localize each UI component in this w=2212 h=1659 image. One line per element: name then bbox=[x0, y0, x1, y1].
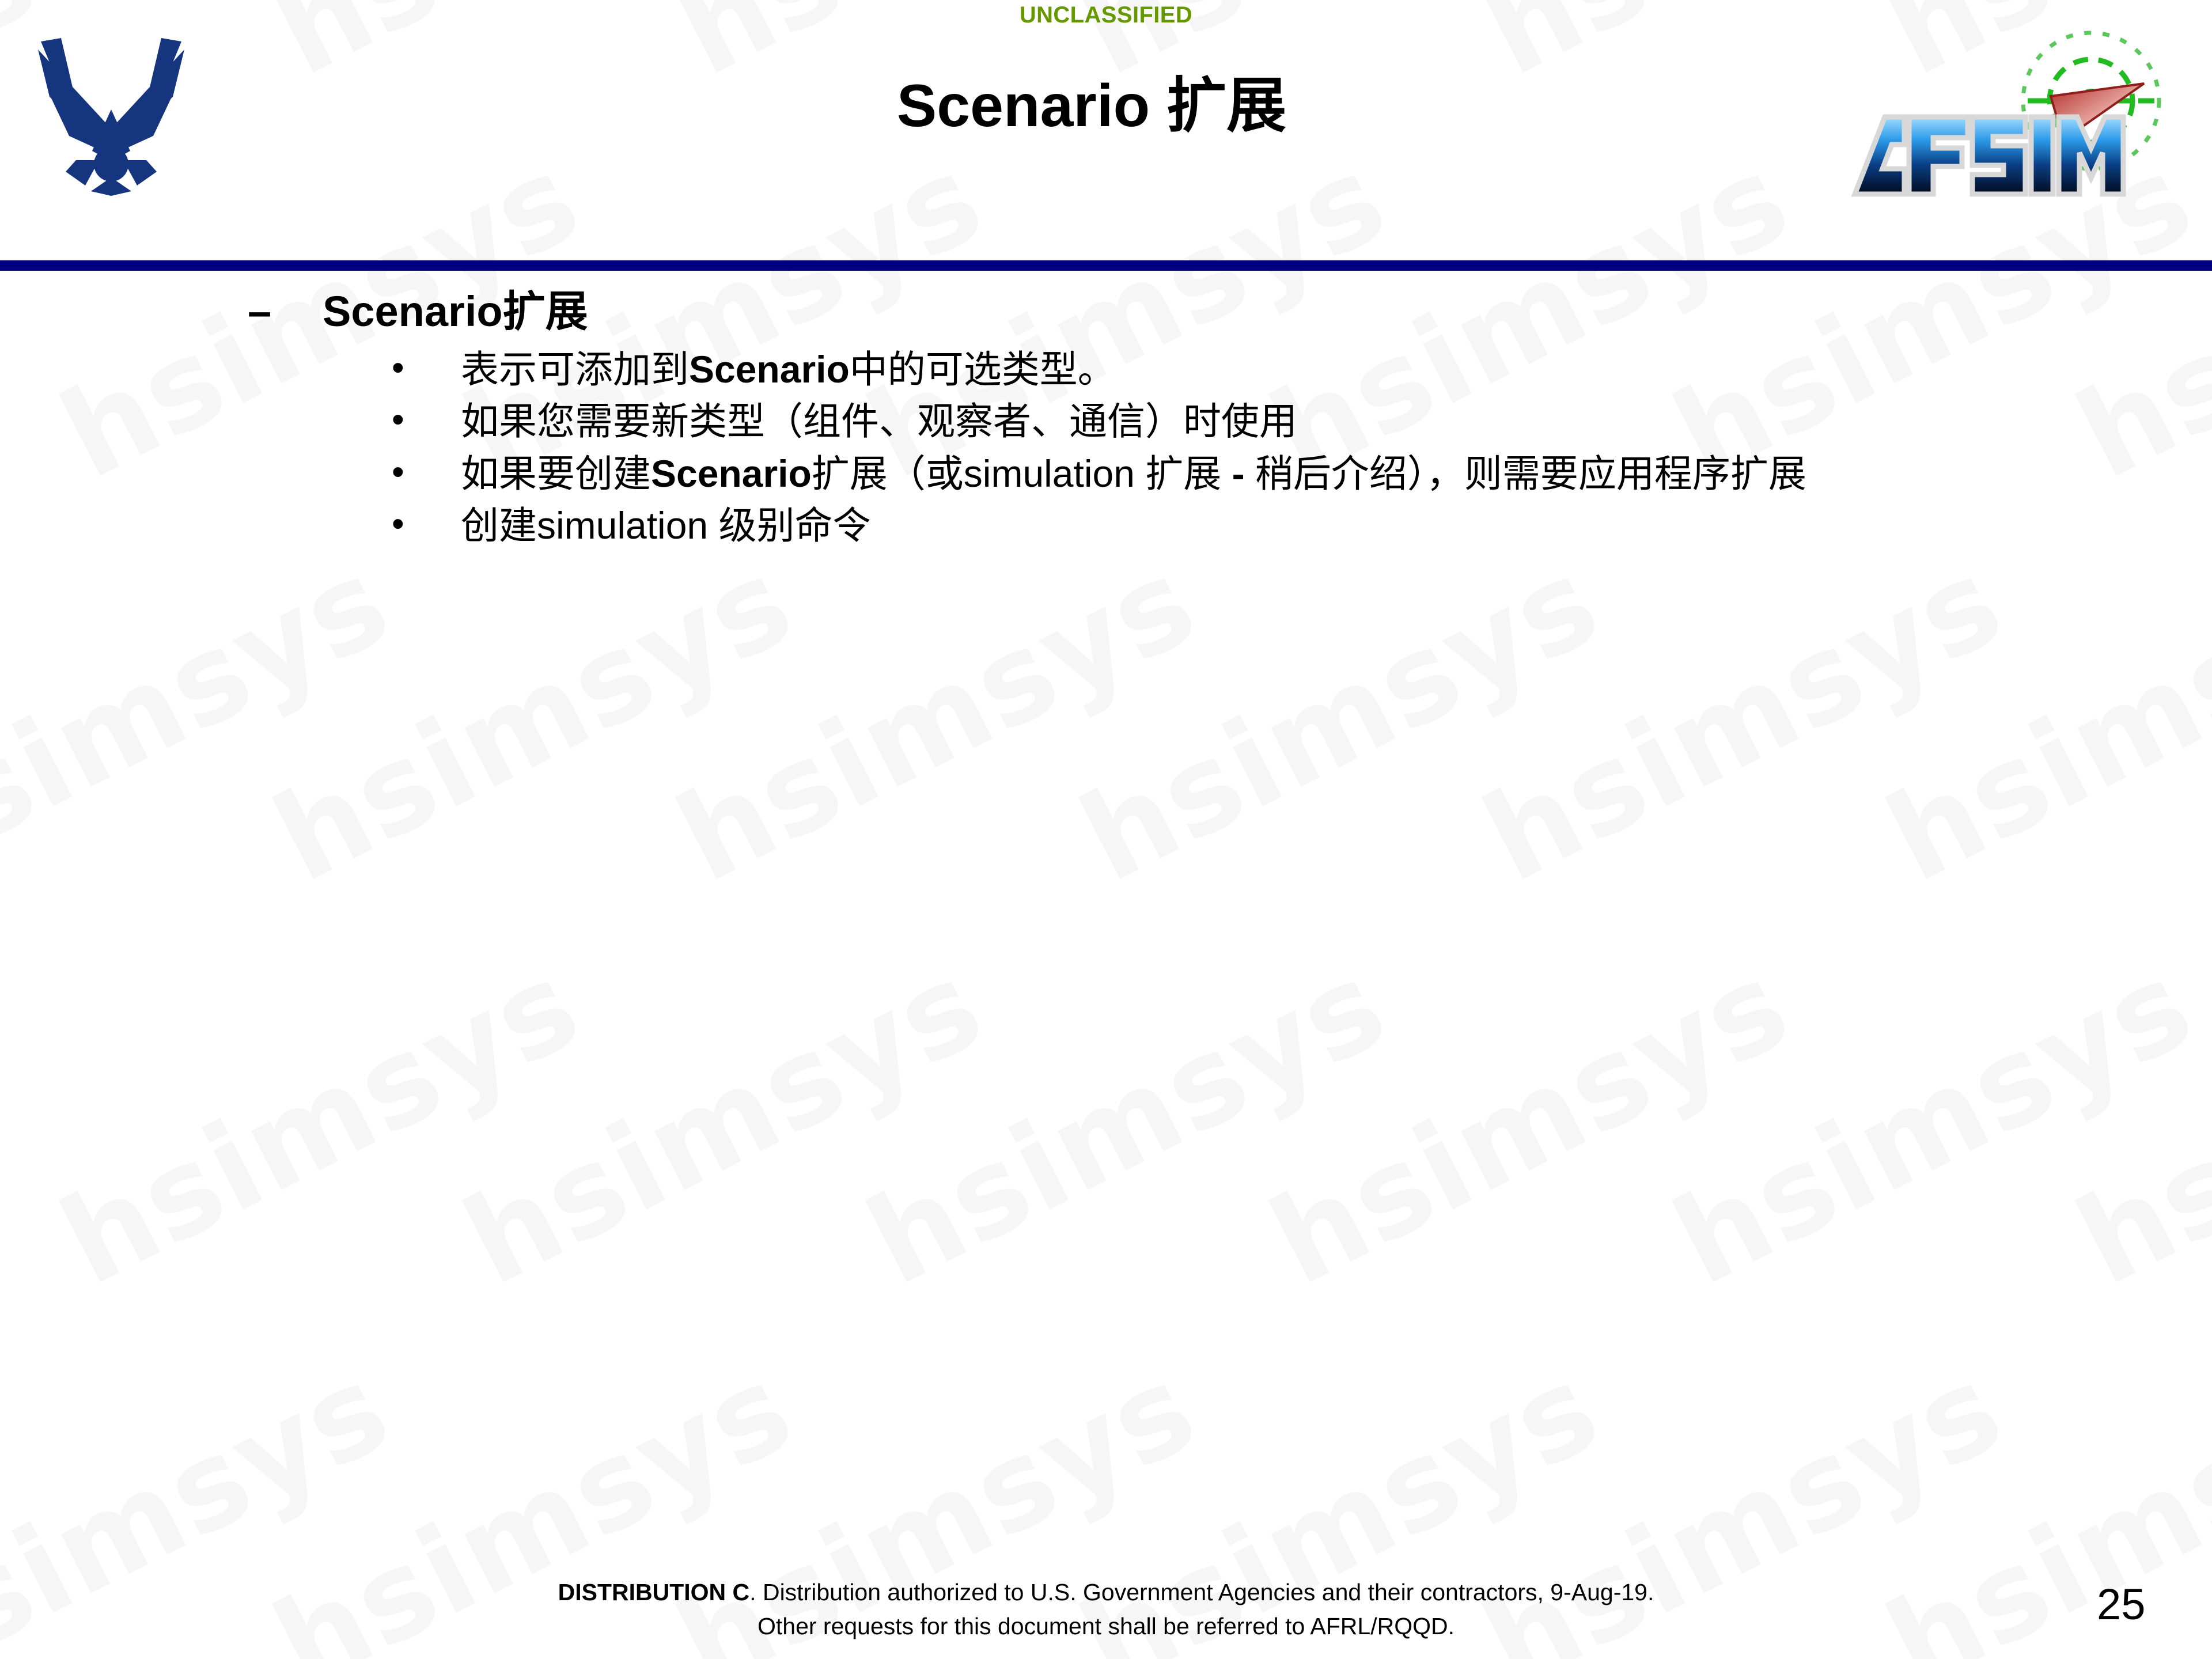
distribution-rest: . Distribution authorized to U.S. Govern… bbox=[749, 1579, 1654, 1605]
bullet-text-segment: 稍后介绍），则需要应用程序扩展 bbox=[1245, 452, 1806, 495]
bullet-level2-text: 表示可添加到Scenario中的可选类型。 bbox=[461, 345, 1116, 393]
bullet-level1-text: Scenario扩展 bbox=[323, 288, 588, 336]
bullet-text-segment: Scenario bbox=[651, 452, 812, 495]
bullet-text-segment: - bbox=[1232, 452, 1245, 495]
bullet-marker-dash: – bbox=[248, 288, 323, 336]
bullet-marker-dot: • bbox=[392, 449, 461, 495]
distribution-footer: DISTRIBUTION C. Distribution authorized … bbox=[0, 1575, 2212, 1644]
bullet-level2-text: 创建simulation 级别命令 bbox=[461, 501, 870, 550]
bullet-level1: – Scenario扩展 bbox=[0, 288, 2212, 336]
bullet-marker-dot: • bbox=[392, 397, 461, 442]
bullet-level2: •表示可添加到Scenario中的可选类型。 bbox=[0, 345, 2212, 393]
bullet-level2: •如果要创建Scenario扩展（或simulation 扩展 - 稍后介绍），… bbox=[0, 449, 2212, 498]
header-divider-rule bbox=[0, 260, 2212, 271]
slide-content: UNCLASSIFIED bbox=[0, 0, 2212, 1659]
footer-line-2: Other requests for this document shall b… bbox=[0, 1609, 2212, 1643]
page-title: Scenario 扩展 bbox=[242, 75, 1941, 138]
distribution-label: DISTRIBUTION C bbox=[558, 1579, 750, 1605]
bullet-list: – Scenario扩展 •表示可添加到Scenario中的可选类型。•如果您需… bbox=[0, 288, 2212, 554]
bullet-marker-dot: • bbox=[392, 501, 461, 547]
footer-line-1: DISTRIBUTION C. Distribution authorized … bbox=[0, 1575, 2212, 1609]
bullet-text-segment: 创建simulation 级别命令 bbox=[461, 504, 870, 547]
afsim-logo bbox=[1849, 14, 2200, 199]
bullet-text-segment: 扩展（或simulation 扩展 bbox=[812, 452, 1232, 495]
bullet-level2-text: 如果您需要新类型（组件、观察者、通信）时使用 bbox=[461, 397, 1297, 445]
bullet-level2-text: 如果要创建Scenario扩展（或simulation 扩展 - 稍后介绍），则… bbox=[461, 449, 1806, 498]
bullet-marker-dot: • bbox=[392, 345, 461, 391]
bullet-text-segment: 中的可选类型。 bbox=[850, 348, 1116, 391]
bullet-text-segment: 表示可添加到 bbox=[461, 348, 689, 391]
bullet-level2-list: •表示可添加到Scenario中的可选类型。•如果您需要新类型（组件、观察者、通… bbox=[0, 345, 2212, 550]
bullet-level2: •创建simulation 级别命令 bbox=[0, 501, 2212, 550]
bullet-text-segment: 如果您需要新类型（组件、观察者、通信）时使用 bbox=[461, 400, 1297, 442]
bullet-text-segment: Scenario bbox=[689, 348, 850, 391]
page-number: 25 bbox=[2097, 1580, 2146, 1630]
bullet-text-segment: 如果要创建 bbox=[461, 452, 651, 495]
bullet-level2: •如果您需要新类型（组件、观察者、通信）时使用 bbox=[0, 397, 2212, 445]
air-force-wings-logo bbox=[16, 23, 206, 196]
